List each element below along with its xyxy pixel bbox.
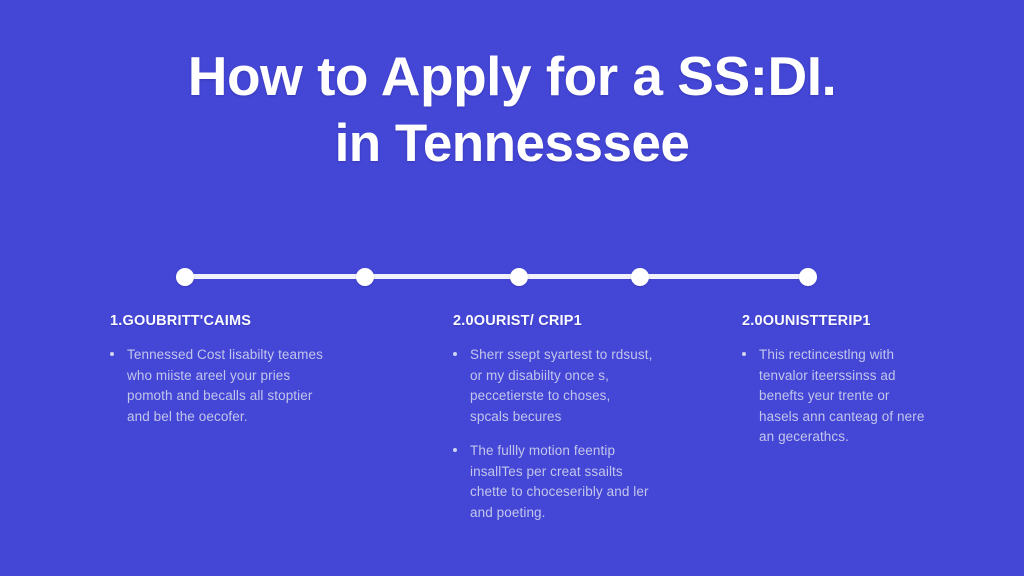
bullet-dot-icon [453, 352, 457, 356]
column-2-bullet-list: Sherr ssept syartest to rdsust, or my di… [453, 345, 653, 523]
column-3-bullet-list: This rectincestlng with tenvalor iteerss… [742, 345, 927, 448]
list-item-text: This rectincestlng with tenvalor iteerss… [759, 347, 924, 444]
column-3-heading: 2.0OUNISTTERIP1 [742, 312, 927, 330]
bullet-dot-icon [453, 448, 457, 452]
column-2-heading: 2.0OURIST/ CRIP1 [453, 312, 653, 330]
list-item: Sherr ssept syartest to rdsust, or my di… [453, 345, 653, 427]
list-item: This rectincestlng with tenvalor iteerss… [742, 345, 927, 448]
page-title: How to Apply for a SS:DI. in Tennesssee [0, 42, 1024, 178]
timeline-dot-2 [356, 268, 374, 286]
timeline-dot-4 [631, 268, 649, 286]
timeline-rail [185, 274, 811, 279]
column-3: 2.0OUNISTTERIP1 This rectincestlng with … [742, 312, 927, 448]
slide-canvas: How to Apply for a SS:DI. in Tennesssee … [0, 0, 1024, 576]
column-1: 1.GOUBRITT'CAIMS Tennessed Cost lisabilt… [110, 312, 325, 427]
bullet-dot-icon [110, 352, 114, 356]
list-item: The fullly motion feentip insallTes per … [453, 441, 653, 523]
list-item-text: Sherr ssept syartest to rdsust, or my di… [470, 347, 652, 424]
column-1-bullet-list: Tennessed Cost lisabilty teames who miis… [110, 345, 325, 427]
list-item: Tennessed Cost lisabilty teames who miis… [110, 345, 325, 427]
column-1-heading: 1.GOUBRITT'CAIMS [110, 312, 325, 330]
timeline-dot-3 [510, 268, 528, 286]
title-line-2: in Tennesssee [0, 110, 1024, 178]
timeline [178, 268, 818, 286]
title-line-1: How to Apply for a SS:DI. [0, 42, 1024, 110]
timeline-dot-1 [176, 268, 194, 286]
column-2: 2.0OURIST/ CRIP1 Sherr ssept syartest to… [453, 312, 653, 523]
content-columns: 1.GOUBRITT'CAIMS Tennessed Cost lisabilt… [0, 312, 1024, 552]
list-item-text: Tennessed Cost lisabilty teames who miis… [127, 347, 323, 424]
bullet-dot-icon [742, 352, 746, 356]
list-item-text: The fullly motion feentip insallTes per … [470, 443, 649, 520]
timeline-dot-5 [799, 268, 817, 286]
